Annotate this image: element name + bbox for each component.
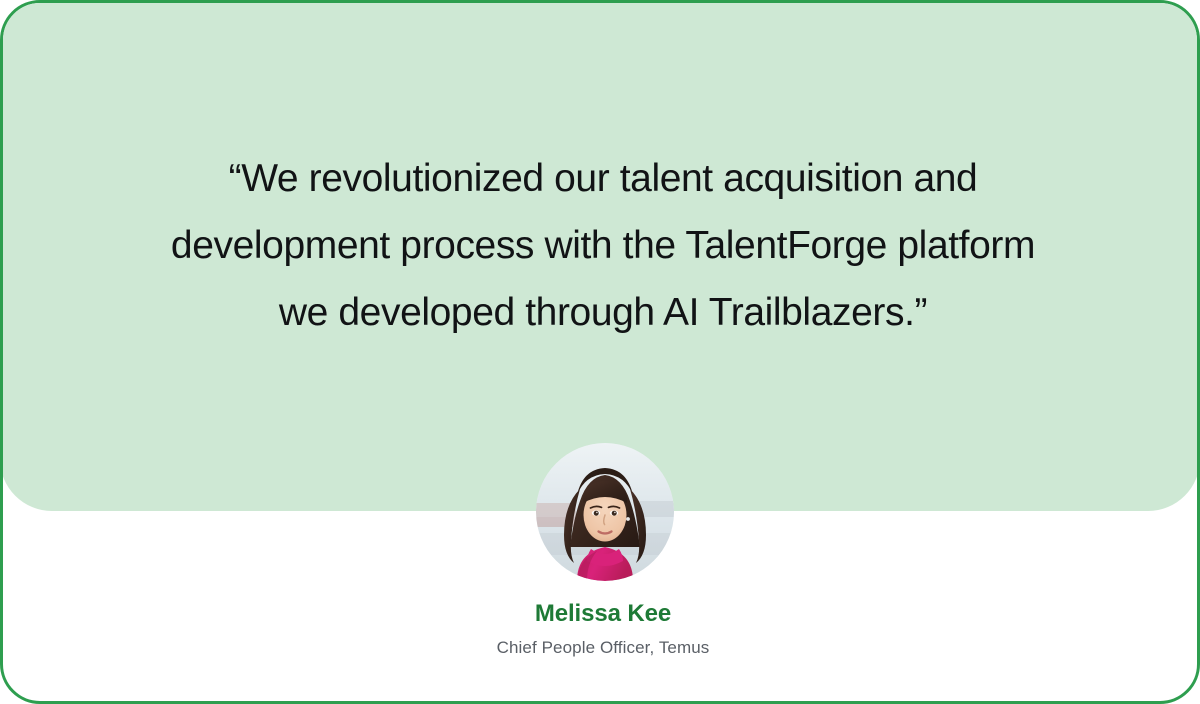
testimonial-card: “We revolutionized our talent acquisitio… xyxy=(0,0,1200,704)
person-name: Melissa Kee xyxy=(3,599,1200,629)
avatar xyxy=(536,443,674,581)
attribution: Melissa Kee Chief People Officer, Temus xyxy=(3,599,1200,659)
quote-text: “We revolutionized our talent acquisitio… xyxy=(3,145,1200,346)
avatar-photo xyxy=(536,443,674,581)
person-role: Chief People Officer, Temus xyxy=(3,637,1200,659)
